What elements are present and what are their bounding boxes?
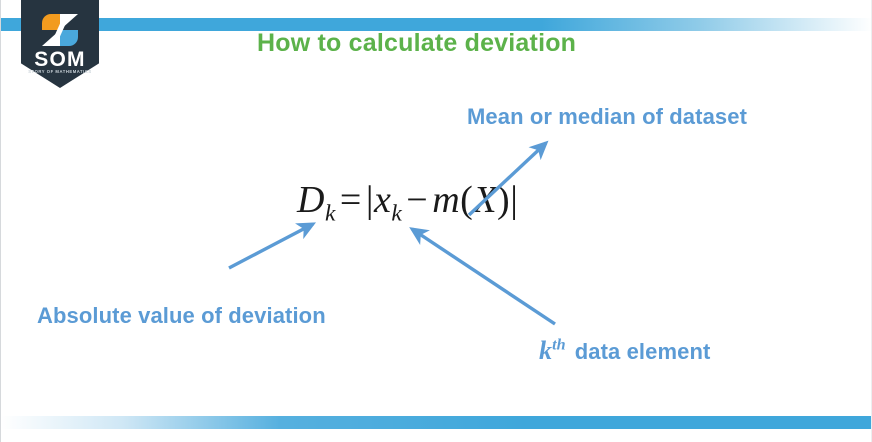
formula-equals: =: [336, 179, 366, 221]
formula-term-symbol: x: [374, 179, 391, 221]
formula-open-bar: |: [366, 179, 374, 221]
arrow-to-xk: [412, 229, 555, 324]
formula-lhs-symbol: D: [297, 179, 325, 221]
formula-open-paren: (: [460, 179, 473, 221]
formula-close-paren: ): [497, 179, 510, 221]
formula-close-bar: |: [510, 179, 518, 221]
formula-term-subscript: k: [391, 201, 402, 227]
formula-minus: −: [402, 179, 432, 221]
formula-argument: X: [473, 179, 497, 221]
bottom-accent-bar: [1, 416, 872, 429]
formula-function-symbol: m: [432, 179, 460, 221]
arrow-to-dk: [229, 224, 313, 268]
page-title: How to calculate deviation: [257, 29, 576, 58]
deviation-formula: Dk=|xk−m(X)|: [297, 178, 518, 228]
logo-tagline: STORY OF MATHEMATICS: [21, 69, 99, 74]
callout-label-kth-data-element: kthdata element: [539, 336, 710, 366]
kth-math-symbol: kth: [539, 336, 566, 365]
callout-label-mean-or-median: Mean or median of dataset: [467, 104, 747, 130]
formula-lhs-subscript: k: [325, 201, 336, 227]
slide-canvas: SOM STORY OF MATHEMATICS How to calculat…: [0, 0, 872, 442]
callout-label-absolute-value: Absolute value of deviation: [37, 303, 326, 329]
som-logo: SOM STORY OF MATHEMATICS: [21, 0, 99, 88]
logo-s-mark-icon: [42, 14, 78, 46]
kth-label-tail: data element: [566, 339, 711, 364]
